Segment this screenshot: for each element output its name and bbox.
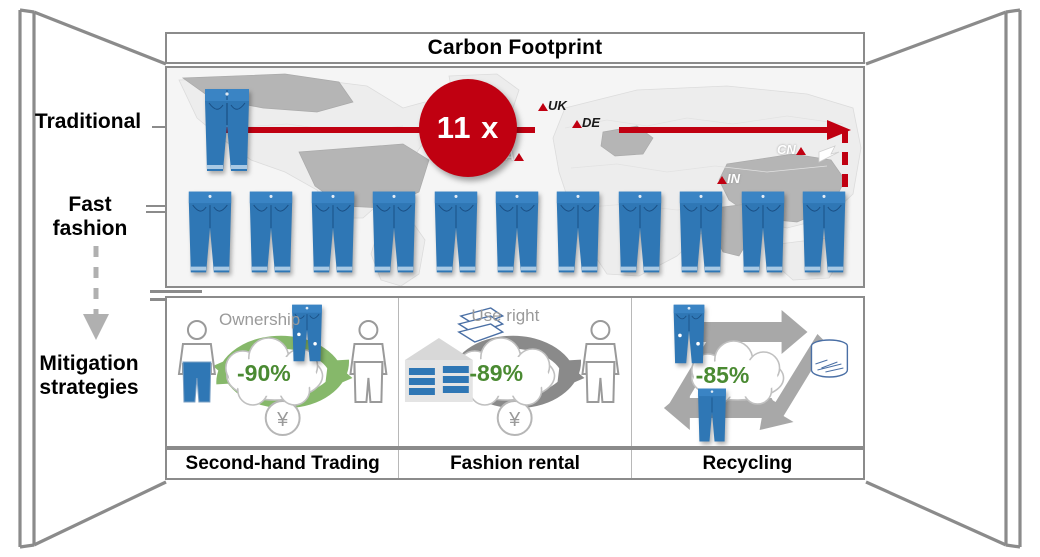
map-marker-uk: UK [538,98,567,113]
map-marker-de-label: DE [582,115,600,130]
reduction-value-fashion-rental: -89% [469,360,523,387]
caption-fashion-rental: Fashion rental [398,450,630,478]
multiplier-badge: 11 x [419,79,517,177]
mitigation-panel-fashion-rental: ¥ [398,298,630,446]
jeans-icon-recycle-out [694,386,730,444]
multiplier-value: 11 x [437,110,500,146]
jeans-icon [369,186,419,282]
jeans-icon [185,186,235,282]
jeans-icon [553,186,603,282]
jeans-icon [676,186,726,282]
map-marker-in: IN [717,171,740,186]
row-label-fast-fashion: Fast fashion [30,193,150,240]
jeans-icon [246,186,296,282]
map-marker-uk-label: UK [548,98,567,113]
svg-text:¥: ¥ [276,409,289,431]
overlay-label-ownership: Ownership [219,310,300,330]
map-marker-de: DE [572,115,600,130]
row-label-mitigation: Mitigation strategies [14,352,164,399]
caption-second-hand: Second-hand Trading [167,450,398,478]
down-dashed-arrow-icon [78,244,114,346]
map-marker-in-label: IN [727,171,740,186]
reduction-value-second-hand: -90% [237,360,291,387]
jeans-icon-traditional [201,85,253,173]
map-marker-cn-label: CN [777,142,796,157]
jeans-icon [431,186,481,282]
marker-triangle-icon [796,147,806,155]
svg-text:¥: ¥ [508,409,521,431]
mitigation-panel-second-hand: ¥ [167,298,398,446]
map-marker-cn: CN [777,142,806,157]
title-bar: Carbon Footprint [165,32,865,64]
marker-triangle-icon [572,120,582,128]
fast-fashion-jeans-row [185,186,849,282]
jeans-icon [492,186,542,282]
overlay-label-use-right: Use right [471,306,539,326]
row-label-fast-fashion-line1: Fast [30,193,150,217]
marker-triangle-icon [717,176,727,184]
mitigation-panel-recycling: -85% [631,298,863,446]
marker-triangle-icon [514,153,524,161]
marker-triangle-icon [538,103,548,111]
row-label-traditional: Traditional [18,110,158,134]
mitigation-panels: ¥ [165,296,865,448]
reduction-value-recycling: -85% [696,362,750,389]
jeans-icon [308,186,358,282]
infographic-canvas: Traditional Fast fashion Mitigation stra… [0,0,1040,557]
caption-bar: Second-hand Trading Fashion rental Recyc… [165,448,865,480]
jeans-icon [799,186,849,282]
row-label-mitigation-line2: strategies [14,376,164,400]
jeans-icon-recycle-in [670,302,708,366]
page-title: Carbon Footprint [428,36,603,60]
connector-tick-mitigation [150,290,202,293]
row-label-mitigation-line1: Mitigation [14,352,164,376]
jeans-icon [738,186,788,282]
row-label-fast-fashion-line2: fashion [30,217,150,241]
caption-recycling: Recycling [631,450,863,478]
jeans-icon [615,186,665,282]
